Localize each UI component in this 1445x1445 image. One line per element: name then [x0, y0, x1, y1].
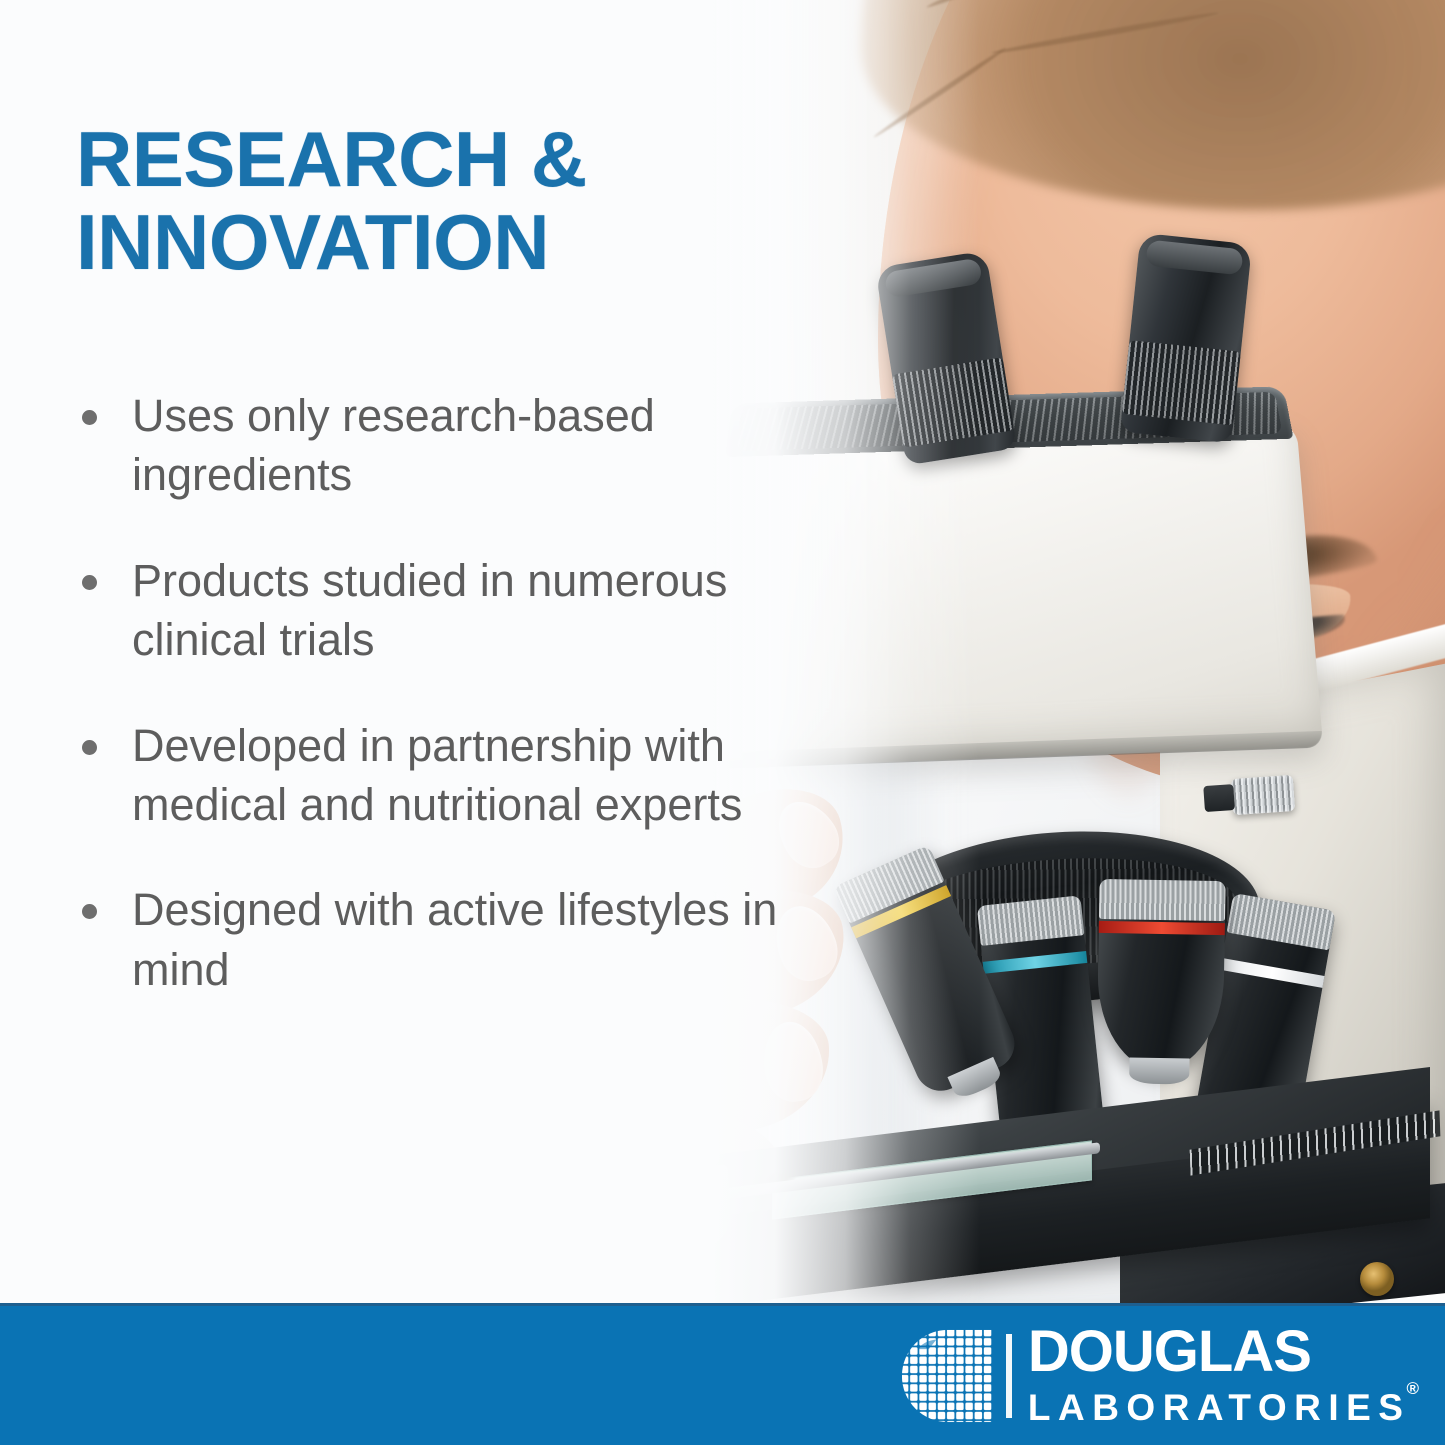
list-item-label: Products studied in numerous clinical tr…: [132, 555, 727, 665]
eyepiece-grip-ridges: [892, 357, 1014, 448]
page-title: RESEARCH & INNOVATION: [76, 118, 756, 283]
objective-collar: [1099, 879, 1226, 921]
footer-bar: DOUGLAS LABORATORIES®: [0, 1303, 1445, 1445]
logo-name-bottom: LABORATORIES®: [1028, 1389, 1423, 1426]
list-item-label: Designed with active lifestyles in mind: [132, 884, 777, 994]
objective-color-band: [1099, 921, 1225, 935]
objective-tip: [1129, 1057, 1190, 1084]
list-item-label: Uses only research-based ingredients: [132, 390, 655, 500]
benefit-list: Uses only research-based ingredients Pro…: [76, 386, 796, 999]
fingernail: [759, 1018, 828, 1105]
brand-logo: DOUGLAS LABORATORIES®: [900, 1322, 1423, 1430]
poster-canvas: RESEARCH & INNOVATION Uses only research…: [0, 0, 1445, 1445]
list-item: Products studied in numerous clinical tr…: [76, 551, 796, 670]
logo-divider: [1006, 1334, 1012, 1418]
page-title-line-1: RESEARCH &: [76, 115, 587, 203]
list-item: Uses only research-based ingredients: [76, 386, 796, 505]
list-item-label: Developed in partnership with medical an…: [132, 720, 742, 830]
microscope-eyepiece-right: [1120, 233, 1252, 444]
logo-name-bottom-text: LABORATORIES: [1028, 1387, 1411, 1428]
douglas-labs-grid-circle-icon: [900, 1328, 996, 1424]
registered-trademark-mark: ®: [1406, 1379, 1419, 1398]
objective-color-band: [983, 951, 1088, 974]
eyepiece-cap: [1145, 239, 1243, 275]
focus-knob: [1231, 775, 1295, 815]
brass-screw: [1360, 1262, 1394, 1296]
logo-name-top: DOUGLAS: [1028, 1323, 1423, 1381]
list-item: Designed with active lifestyles in mind: [76, 880, 796, 999]
logo-wordmark: DOUGLAS LABORATORIES®: [1028, 1323, 1423, 1430]
eyepiece-grip-ridges: [1122, 340, 1241, 425]
page-title-line-2: INNOVATION: [76, 198, 549, 286]
objective-color-band: [1220, 958, 1325, 988]
list-item: Developed in partnership with medical an…: [76, 716, 796, 835]
eyepiece-cap: [884, 258, 983, 299]
